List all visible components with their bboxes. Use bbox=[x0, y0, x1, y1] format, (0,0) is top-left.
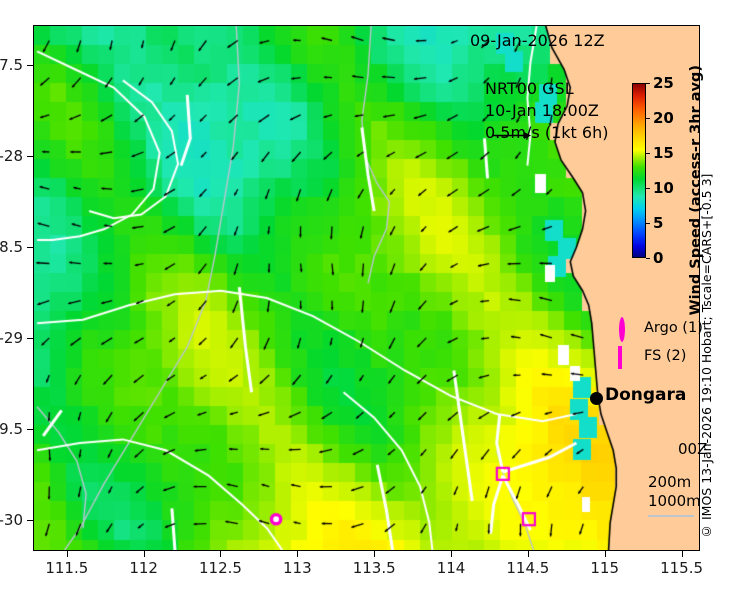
colorbar-tick bbox=[646, 188, 650, 189]
y-axis-tick-label: -27.5 bbox=[0, 56, 23, 74]
x-axis-tick bbox=[374, 551, 375, 557]
y-axis-tick-label: -28.5 bbox=[0, 238, 23, 256]
colorbar-tick-label: 5 bbox=[653, 214, 663, 232]
colorbar-tick-label: 0 bbox=[653, 249, 663, 267]
argo-marker-icon bbox=[618, 320, 634, 336]
x-axis-tick-label: 113 bbox=[283, 559, 312, 577]
colorbar-tick-label: 10 bbox=[653, 179, 674, 197]
legend-item-fs[interactable]: FS (2) bbox=[618, 342, 703, 370]
colorbar-tick bbox=[646, 153, 650, 154]
colorbar-tick-label: 20 bbox=[653, 109, 674, 127]
x-axis-tick-label: 112 bbox=[129, 559, 158, 577]
marker-legend: Argo (1) FS (2) bbox=[618, 314, 703, 370]
y-axis-tick-label: -30 bbox=[0, 511, 23, 529]
legend-item-argo[interactable]: Argo (1) bbox=[618, 314, 703, 342]
depth-contour-sample-line bbox=[648, 515, 694, 517]
depth-contour-key: 200m 1000m bbox=[648, 473, 701, 511]
x-axis-tick-label: 115 bbox=[590, 559, 619, 577]
x-axis-tick bbox=[528, 551, 529, 557]
colorbar-tick-label: 15 bbox=[653, 144, 674, 162]
dongara-city-marker bbox=[590, 392, 603, 405]
y-axis-tick bbox=[27, 429, 33, 430]
fs-marker-icon bbox=[618, 348, 634, 364]
y-axis-tick bbox=[27, 156, 33, 157]
colorbar-tick-label: 25 bbox=[653, 74, 674, 92]
x-axis-tick-label: 113.5 bbox=[353, 559, 396, 577]
colorbar-tick bbox=[646, 118, 650, 119]
model-name: NRT00 GSL bbox=[485, 78, 608, 100]
colorbar-tick bbox=[646, 83, 650, 84]
model-valid-time: 10-Jan 18:00Z bbox=[485, 100, 608, 122]
y-axis-tick bbox=[27, 247, 33, 248]
y-axis-tick bbox=[27, 520, 33, 521]
x-axis-tick bbox=[682, 551, 683, 557]
colorbar-tick bbox=[646, 258, 650, 259]
dongara-label: Dongara bbox=[605, 385, 686, 405]
date-stamp: 09-Jan-2026 12Z bbox=[470, 31, 605, 50]
y-axis-tick-label: -29.5 bbox=[0, 420, 23, 438]
y-axis-tick bbox=[27, 65, 33, 66]
x-axis-tick bbox=[220, 551, 221, 557]
legend-item-label: FS (2) bbox=[644, 348, 686, 364]
x-axis-tick bbox=[605, 551, 606, 557]
x-axis-tick-label: 114.5 bbox=[506, 559, 549, 577]
depth-200m-label: 200m bbox=[648, 473, 701, 492]
legend-item-label: Argo (1) bbox=[644, 320, 703, 336]
x-axis-tick-label: 114 bbox=[437, 559, 466, 577]
x-axis-tick bbox=[451, 551, 452, 557]
depth-1000m-label: 1000m bbox=[648, 492, 701, 511]
y-axis-tick bbox=[27, 338, 33, 339]
credit-text: © IMOS 13-Jan-2026 19:10 Hobart; Tscale=… bbox=[699, 174, 714, 539]
vector-scale-arrow-icon bbox=[492, 130, 532, 141]
y-axis-tick-label: -29 bbox=[0, 329, 23, 347]
x-axis-tick-label: 111.5 bbox=[45, 559, 88, 577]
y-axis-tick-label: -28 bbox=[0, 147, 23, 165]
x-axis-tick bbox=[144, 551, 145, 557]
figure-root: 09-Jan-2026 12Z NRT00 GSL 10-Jan 18:00Z … bbox=[0, 0, 740, 592]
x-axis-tick bbox=[67, 551, 68, 557]
colorbar-gradient bbox=[632, 83, 646, 258]
x-axis-tick-label: 112.5 bbox=[199, 559, 242, 577]
x-axis-tick-label: 115.5 bbox=[660, 559, 703, 577]
x-axis-tick bbox=[297, 551, 298, 557]
colorbar-tick bbox=[646, 223, 650, 224]
